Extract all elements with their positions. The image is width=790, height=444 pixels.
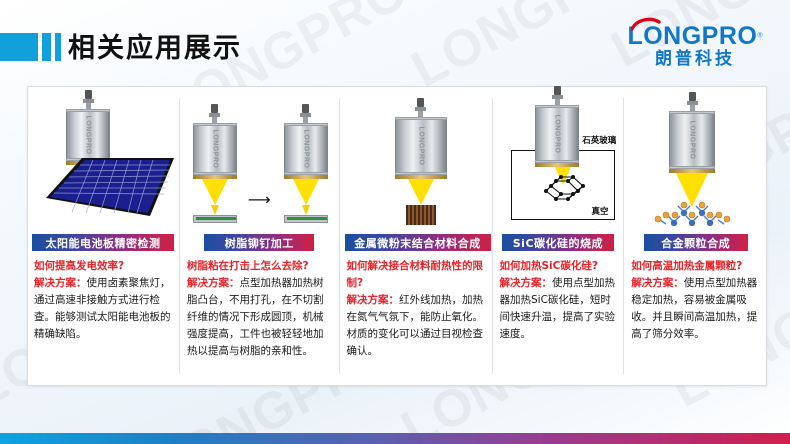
panel-body: 如何加热SiC碳化硅? 解决方案：使用点型加热器加热SiC碳化硅，短时间快速升温… (497, 258, 618, 343)
panel-bar-label: SiC碳化硅的烧成 (502, 234, 614, 251)
panel-solution-label: 解决方案： (187, 277, 240, 289)
panel-question: 如何解决接合材料耐热性的限制? (347, 258, 485, 292)
panel-body: 如何高温加热金属颗粒? 解决方案：使用点型加热器稳定加热，容易被金属吸收。并且瞬… (629, 258, 762, 343)
panel-solar-panel-inspection[interactable]: LONGPRO (27, 86, 179, 386)
panel-alloy-particle-synthesis[interactable]: LONGPRO (624, 86, 767, 386)
workpiece-icon (284, 215, 328, 223)
panel-bar-label: 合金颗粒合成 (644, 234, 748, 251)
panel-question: 如何加热SiC碳化硅? (499, 258, 616, 275)
sic-crystal-lattice-icon (542, 173, 588, 203)
panel-solution-label: 解决方案： (499, 277, 552, 289)
panel-resin-rivet-processing[interactable]: LONGPRO ⟶ LONGPRO (180, 86, 339, 386)
art-infrared-heater-over-powder-bed: LONGPRO (345, 86, 487, 232)
art-halogen-lamp-over-solar-panel: LONGPRO (32, 86, 174, 232)
panel-body: 如何提高发电效率? 解决方案：使用卤素聚焦灯，通过高速非接触方式进行检查。能够测… (32, 258, 174, 343)
heater-device-icon: LONGPRO (535, 86, 579, 167)
device-logo-text: LONGPRO (211, 130, 218, 169)
panel-solution-label: 解决方案： (631, 277, 684, 289)
process-arrow-icon: ⟶ (248, 190, 271, 210)
art-point-heater-over-alloy-particles: LONGPRO (629, 86, 762, 232)
panel-body: 如何解决接合材料耐热性的限制? 解决方案：红外线加热，加热在氮气气氛下，能防止氧… (345, 258, 487, 360)
panel-solution-label: 解决方案： (347, 294, 400, 306)
panel-solution-label: 解决方案： (34, 277, 87, 289)
panel-body: 树脂粘在打击上怎么去除? 解决方案：点型加热器加热树脂凸台，不用打孔，在不切割纤… (185, 258, 334, 360)
label-vacuum: 真空 (591, 205, 608, 217)
panel-question: 树脂粘在打击上怎么去除? (187, 258, 332, 275)
panel-question: 如何高温加热金属颗粒? (631, 258, 760, 275)
device-logo-text: LONGPRO (302, 130, 309, 169)
panel-bar-label: 金属微粉末结合材料合成 (345, 234, 491, 251)
logo-wordmark: LONGPRO® (627, 24, 762, 49)
solar-panel-graphic (38, 138, 178, 226)
panel-bar-label: 树脂铆钉加工 (204, 234, 314, 251)
art-point-heater-over-vacuum-chamber: LONGPRO 石英玻璃 (497, 86, 618, 232)
alloy-particles-icon (648, 196, 744, 226)
heater-device-icon: LONGPRO (395, 98, 447, 225)
device-logo-text: LONGPRO (417, 127, 424, 166)
logo-chinese-name: 朗普科技 (620, 50, 770, 70)
bottom-accent-strip (0, 433, 790, 444)
panel-question: 如何提高发电效率? (34, 258, 172, 275)
panels-container: LONGPRO (27, 86, 767, 386)
powder-bed-icon (406, 205, 436, 225)
label-quartz-glass: 石英玻璃 (582, 134, 616, 146)
workpiece-icon (193, 215, 237, 223)
slide-root: LONGPRO LONGPRO LONGPRO LONGPRO LONGPRO … (0, 0, 790, 444)
art-two-point-heaters-with-arrow: LONGPRO ⟶ LONGPRO (185, 86, 334, 232)
panel-sic-sintering[interactable]: LONGPRO 石英玻璃 (492, 86, 623, 386)
registered-mark-icon: ® (757, 33, 762, 40)
panel-solution-text: 点型加热器加热树脂凸台，不用打孔，在不切割纤维的情况下形成圆顶，机械强度提高，工… (187, 277, 324, 357)
header-bars-icon (0, 33, 65, 61)
page-title: 相关应用展示 (68, 26, 242, 65)
panel-bar-label: 太阳能电池板精密检测 (32, 234, 174, 251)
heater-device-icon: LONGPRO (193, 104, 237, 223)
logo-swoosh-icon (631, 17, 661, 31)
brand-logo: LONGPRO® 朗普科技 (620, 24, 770, 70)
heater-device-icon: LONGPRO (284, 104, 328, 223)
device-logo-text: LONGPRO (554, 115, 561, 154)
heater-device-icon: LONGPRO (669, 92, 715, 207)
device-logo-text: LONGPRO (689, 121, 696, 160)
panel-metal-powder-bonding[interactable]: LONGPRO 金属微粉末结合材料合成 如何解决接合材料耐热性的限制? 解决方案… (340, 86, 492, 386)
